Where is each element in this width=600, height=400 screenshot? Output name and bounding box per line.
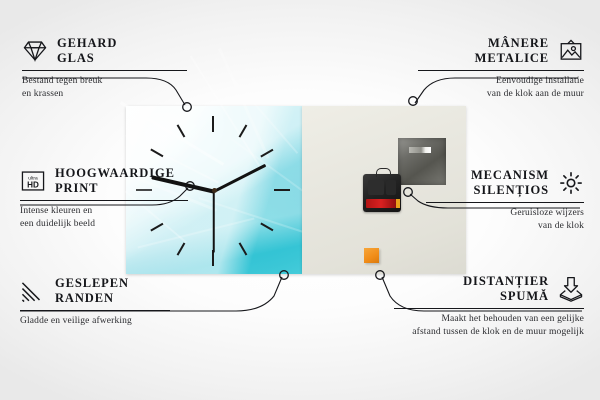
- callout-tempered-glass: GEHARD GLAS Bestand tegen breuk en krass…: [22, 36, 187, 100]
- callout-silent-mechanism: MECANISM SILENȚIOS Geruisloze wijzers va…: [426, 168, 584, 232]
- movement-dial: [368, 180, 384, 195]
- clock-tick: [274, 189, 290, 191]
- callout-title-line1: HOOGWAARDIGE: [55, 166, 175, 181]
- callout-desc-line2: afstand tussen de klok en de muur mogeli…: [394, 326, 584, 339]
- callout-divider: [394, 308, 584, 309]
- down-arrow-stack-icon: [558, 276, 584, 302]
- movement-hanger-hook: [376, 168, 391, 177]
- clock-second-hand: [213, 191, 215, 253]
- callout-divider: [22, 70, 187, 71]
- callout-title-line1: MÂNERE: [475, 36, 549, 51]
- callout-divider: [20, 310, 170, 311]
- callout-title-line2: RANDEN: [55, 291, 129, 306]
- ultra-hd-icon: ultra HD: [20, 168, 46, 194]
- movement-dial-secondary: [386, 180, 396, 195]
- callout-title-line1: DISTANȚIER: [463, 274, 549, 289]
- gear-icon: [558, 170, 584, 196]
- diamond-icon: [22, 38, 48, 64]
- clock-tick: [260, 223, 273, 231]
- leader-endpoint-marker: [409, 97, 418, 106]
- callout-desc-line1: Eenvoudige installatie: [418, 75, 584, 88]
- callout-divider: [20, 200, 188, 201]
- callout-title-line2: SPUMĂ: [463, 289, 549, 304]
- callout-desc-line2: van de klok aan de muur: [418, 88, 584, 101]
- framed-picture-icon: [558, 38, 584, 64]
- infographic-canvas: GEHARD GLAS Bestand tegen breuk en krass…: [0, 0, 600, 400]
- clock-hour-hand: [213, 163, 266, 192]
- quartz-movement-box: [363, 174, 401, 212]
- callout-desc-line1: Intense kleuren en: [20, 205, 188, 218]
- callout-desc-line1: Gladde en veilige afwerking: [20, 315, 170, 328]
- clock-tick: [239, 243, 247, 256]
- callout-title-line2: SILENȚIOS: [471, 183, 549, 198]
- callout-desc-line2: van de klok: [426, 220, 584, 233]
- callout-title-line2: METALICE: [475, 51, 549, 66]
- svg-text:HD: HD: [27, 181, 39, 190]
- callout-title-line1: MECANISM: [471, 168, 549, 183]
- hanger-slot: [409, 147, 431, 153]
- callout-metal-handles: MÂNERE METALICE Eenvoudige installatie v…: [418, 36, 584, 100]
- foam-spacer: [364, 248, 379, 263]
- callout-divider: [426, 202, 584, 203]
- clock-center-pin: [212, 188, 217, 193]
- clock-tick: [239, 125, 247, 138]
- battery: [366, 199, 396, 208]
- battery-terminal: [396, 199, 400, 208]
- callout-desc-line1: Geruisloze wijzers: [426, 207, 584, 220]
- callout-desc-line1: Bestand tegen breuk: [22, 75, 187, 88]
- callout-desc-line2: een duidelijk beeld: [20, 218, 188, 231]
- callout-desc-line1: Maakt het behouden van een gelijke: [394, 313, 584, 326]
- callout-divider: [418, 70, 584, 71]
- callout-foam-spacer: DISTANȚIER SPUMĂ Maakt het behouden van …: [394, 274, 584, 338]
- callout-title-line2: PRINT: [55, 181, 175, 196]
- callout-hd-print: ultra HD HOOGWAARDIGE PRINT Intense kleu…: [20, 166, 188, 230]
- bevel-lines-icon: [20, 278, 46, 304]
- clock-tick: [212, 116, 214, 132]
- clock-tick: [177, 243, 185, 256]
- callout-title-line1: GEHARD: [57, 36, 117, 51]
- callout-desc-line2: en krassen: [22, 88, 187, 101]
- callout-title-line2: GLAS: [57, 51, 117, 66]
- callout-title-line1: GESLEPEN: [55, 276, 129, 291]
- callout-polished-edges: GESLEPEN RANDEN Gladde en veilige afwerk…: [20, 276, 170, 328]
